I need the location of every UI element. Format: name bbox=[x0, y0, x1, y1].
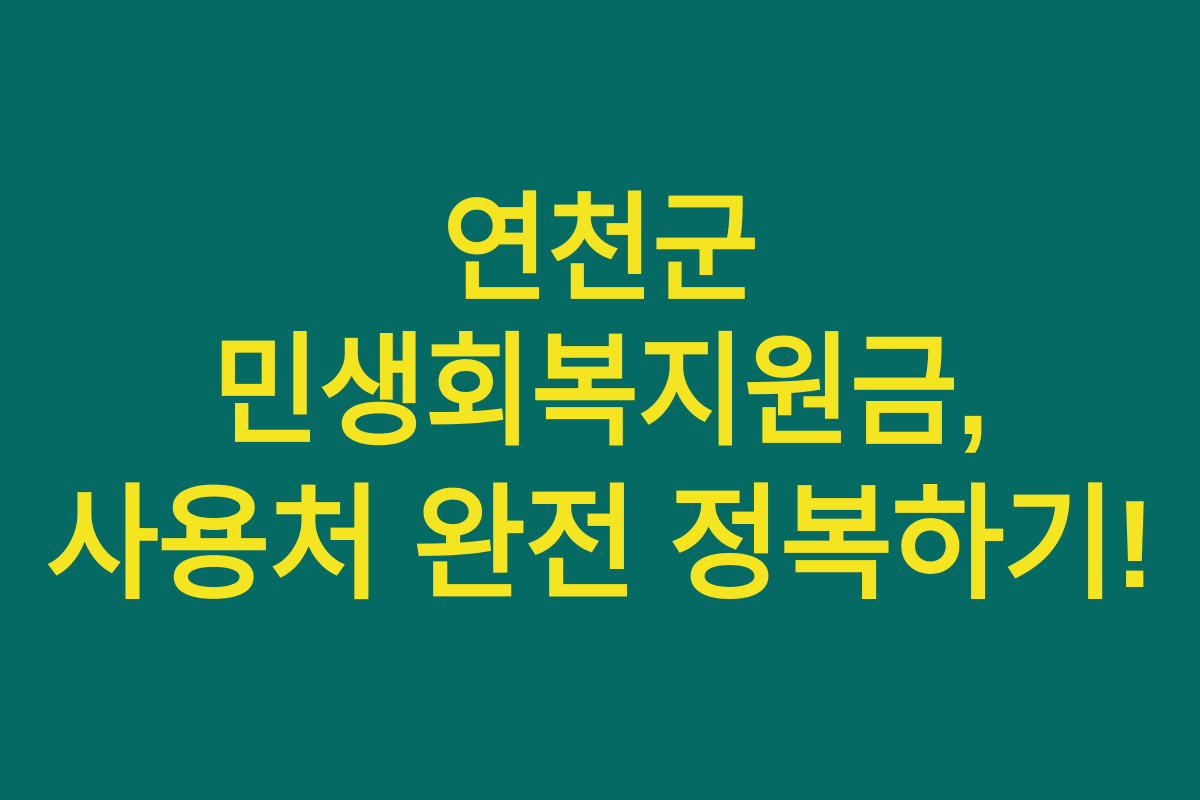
headline-line-2: 민생회복지원금, bbox=[24, 331, 1176, 453]
headline-block: 연천군 민생회복지원금, 사용처 완전 정복하기! bbox=[0, 191, 1200, 607]
headline-line-1: 연천군 bbox=[12, 191, 1188, 309]
promo-banner: 연천군 민생회복지원금, 사용처 완전 정복하기! bbox=[0, 0, 1200, 800]
headline-line-3: 사용처 완전 정복하기! bbox=[6, 483, 1194, 607]
